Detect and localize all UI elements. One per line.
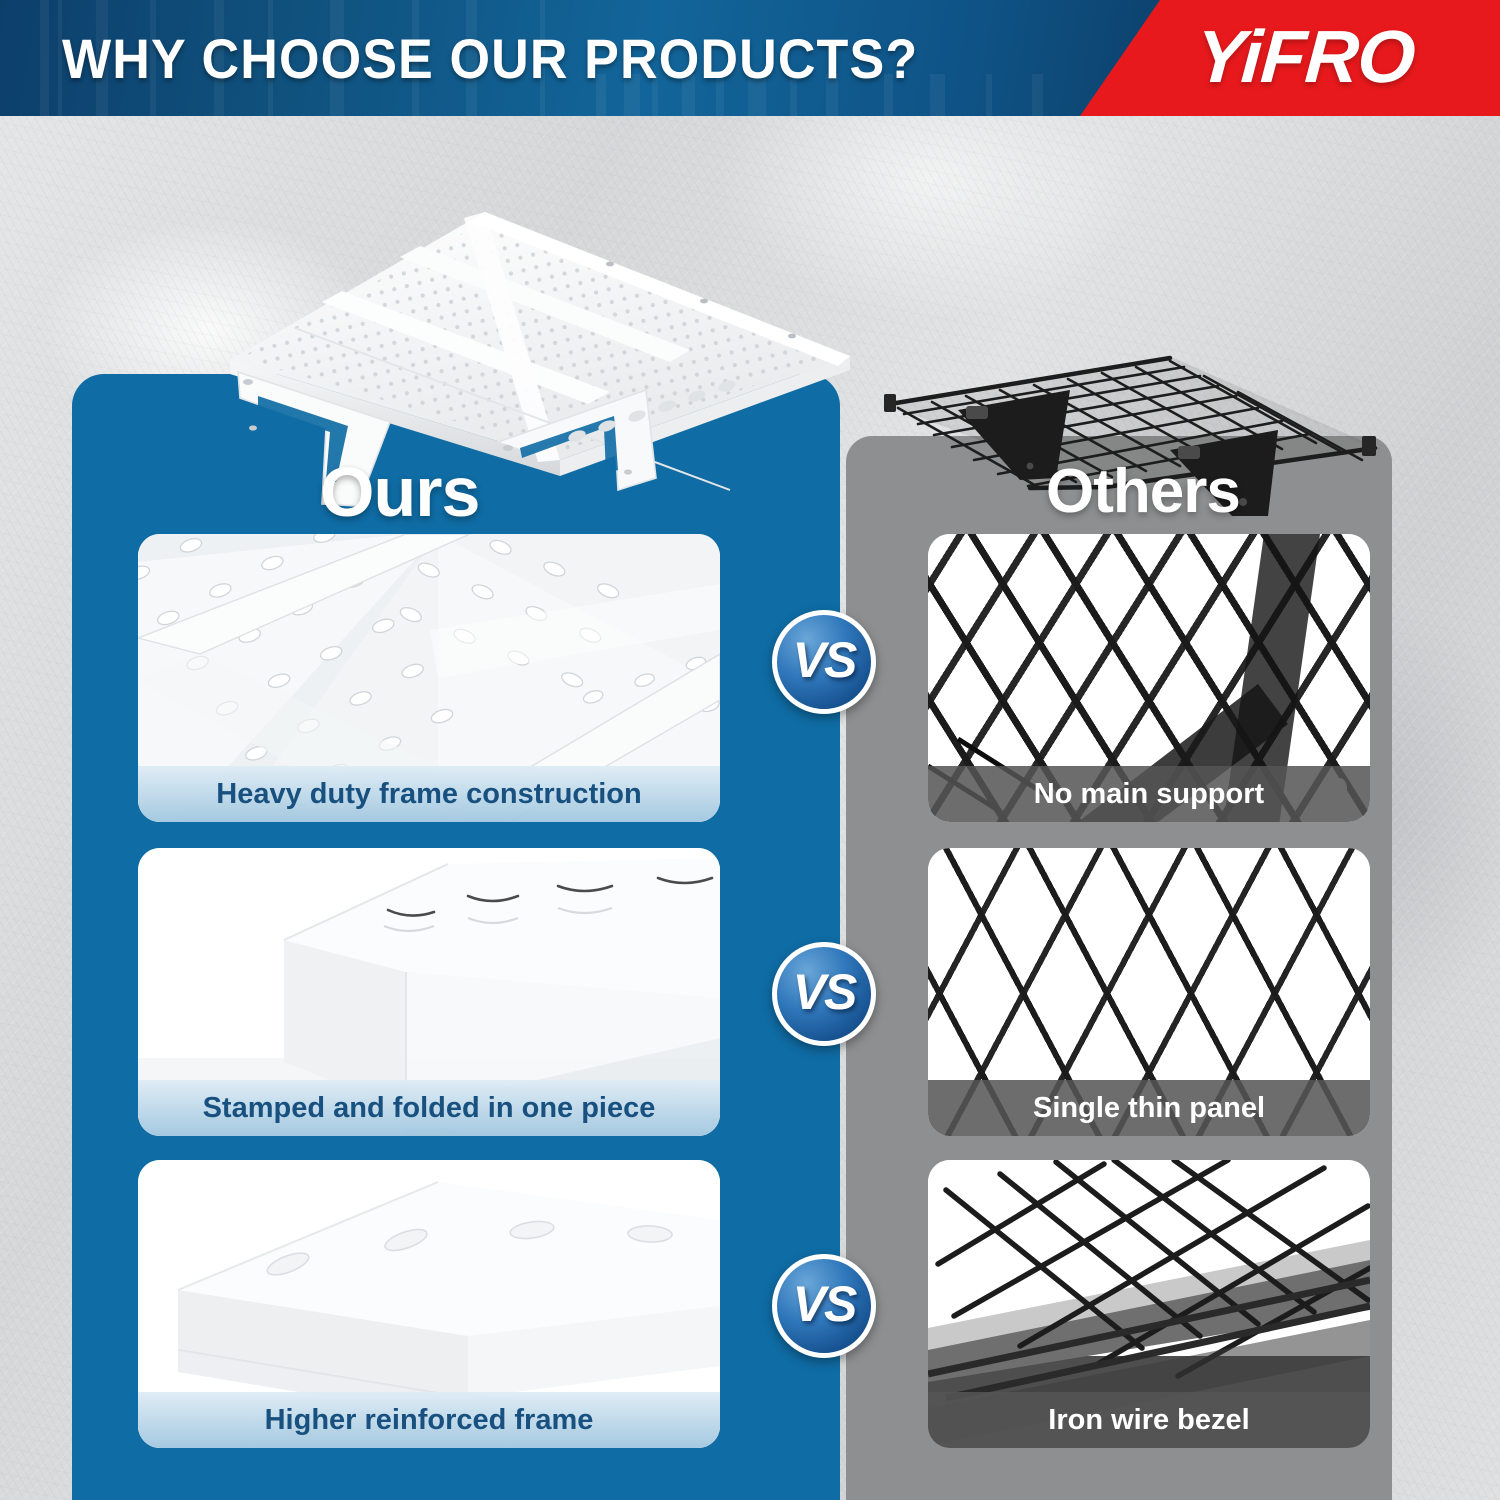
tile-ours-3[interactable]: Higher reinforced frame bbox=[138, 1160, 720, 1448]
brand-logo: YiFRO bbox=[1193, 14, 1417, 99]
caption-others-1: No main support bbox=[928, 766, 1370, 822]
caption-others-3: Iron wire bezel bbox=[928, 1392, 1370, 1448]
infographic-root: WHY CHOOSE OUR PRODUCTS? YiFRO bbox=[0, 0, 1500, 1500]
vs-badge-3: VS bbox=[772, 1254, 876, 1358]
vs-label-3: VS bbox=[793, 1275, 856, 1333]
header-banner: WHY CHOOSE OUR PRODUCTS? YiFRO bbox=[0, 0, 1500, 116]
others-heading: Others bbox=[1046, 456, 1240, 527]
tile-others-3[interactable]: Iron wire bezel bbox=[928, 1160, 1370, 1448]
vs-badge-2: VS bbox=[772, 942, 876, 1046]
page-title: WHY CHOOSE OUR PRODUCTS? bbox=[62, 18, 1029, 98]
vs-label-1: VS bbox=[793, 631, 856, 689]
caption-ours-3: Higher reinforced frame bbox=[138, 1392, 720, 1448]
ours-heading: Ours bbox=[320, 452, 479, 532]
caption-others-2: Single thin panel bbox=[928, 1080, 1370, 1136]
tile-others-2[interactable]: Single thin panel bbox=[928, 848, 1370, 1136]
tile-others-1[interactable]: No main support bbox=[928, 534, 1370, 822]
tile-ours-2[interactable]: Stamped and folded in one piece bbox=[138, 848, 720, 1136]
vs-badge-1: VS bbox=[772, 610, 876, 714]
tile-ours-1[interactable]: Heavy duty frame construction bbox=[138, 534, 720, 822]
vs-label-2: VS bbox=[793, 963, 856, 1021]
caption-ours-2: Stamped and folded in one piece bbox=[138, 1080, 720, 1136]
caption-ours-1: Heavy duty frame construction bbox=[138, 766, 720, 822]
